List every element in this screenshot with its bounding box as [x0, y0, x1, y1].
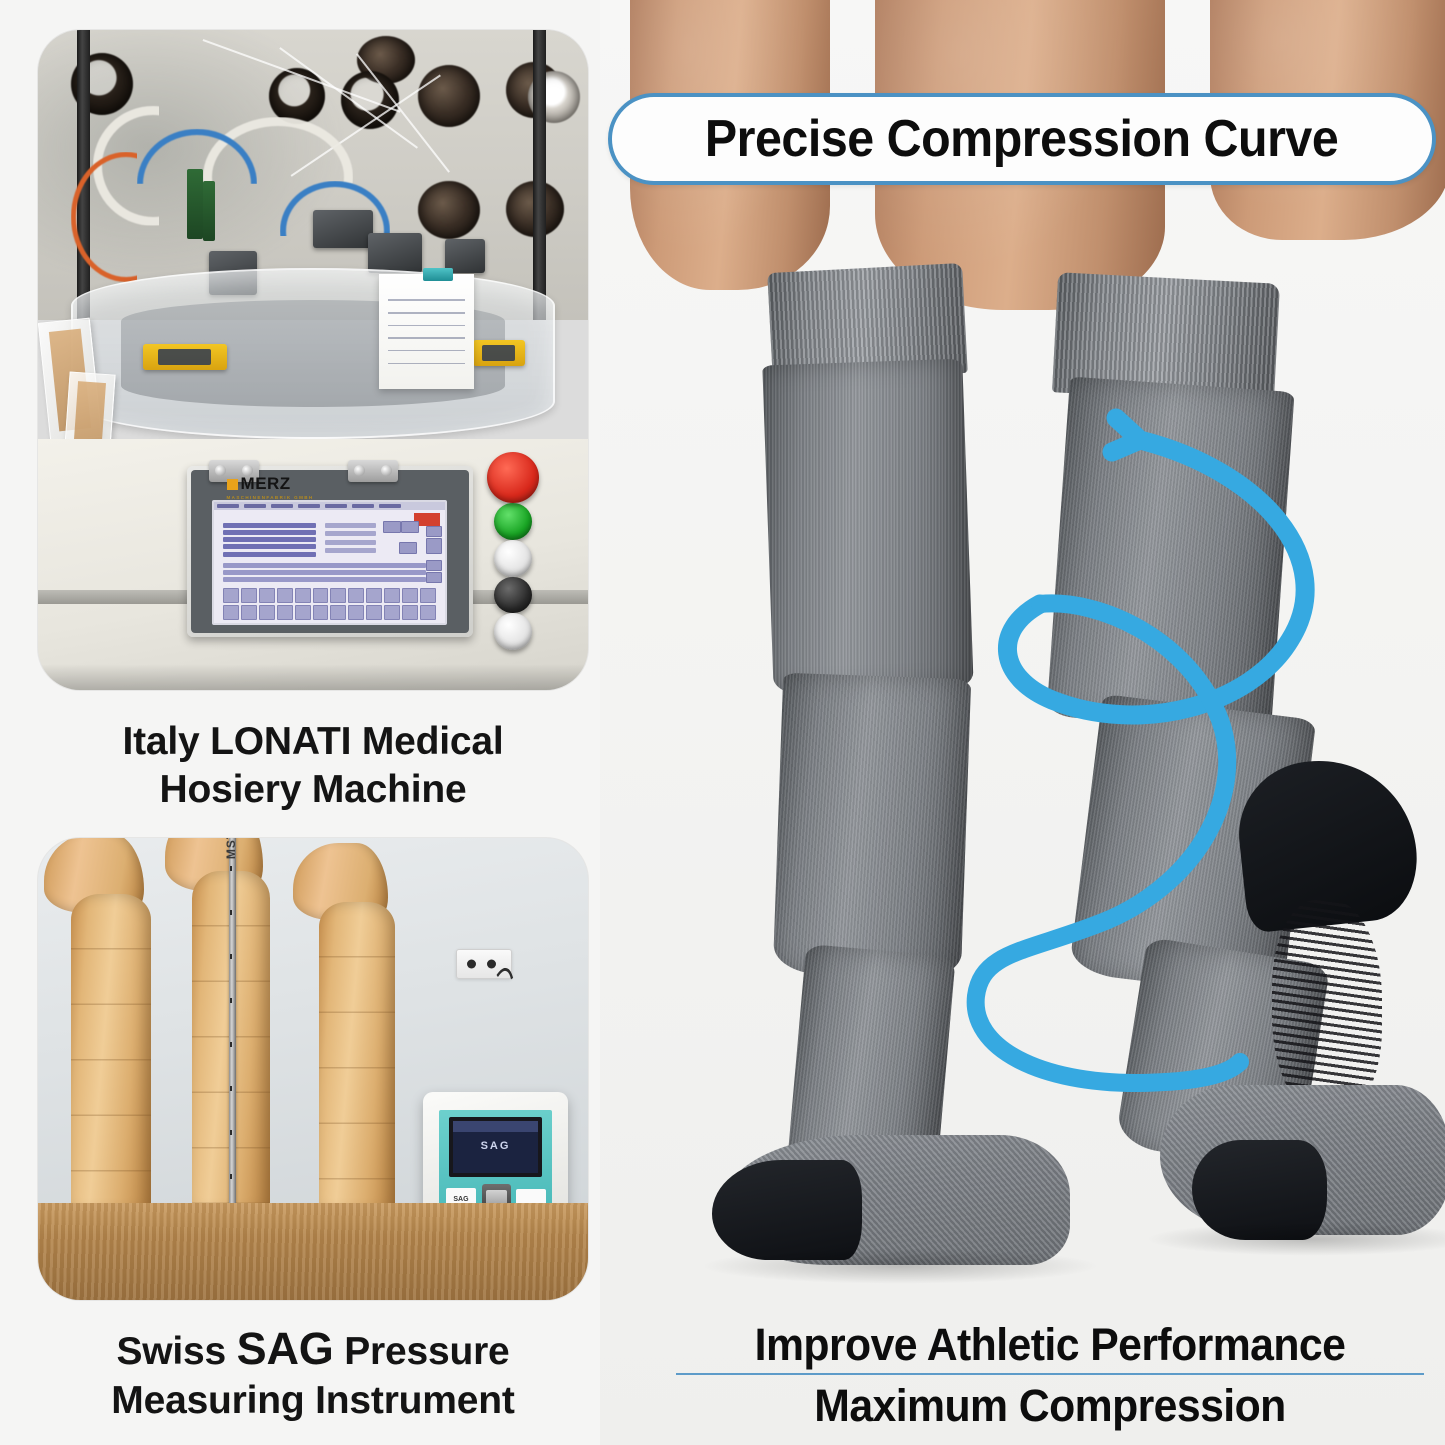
clamp-bar-label: [158, 349, 212, 365]
sag-instrument-photo: MST SAG SAG: [38, 838, 588, 1300]
sag-device-screen: SAG: [449, 1117, 542, 1177]
leg-form-shaft: [319, 902, 395, 1212]
wooden-leg-form: [319, 843, 395, 1213]
reset-button[interactable]: [494, 540, 532, 577]
emergency-stop-button[interactable]: [487, 452, 539, 502]
yarn-cone-icon: [418, 181, 480, 239]
sag-caption-prefix: Swiss: [116, 1330, 236, 1373]
frame-post: [533, 30, 546, 320]
ground-shadow: [700, 1248, 1100, 1284]
hmi-screen[interactable]: [212, 500, 447, 625]
machine-caption: Italy LONATI Medical Hosiery Machine: [20, 718, 606, 813]
sock-caption-line2: Maximum Compression: [680, 1379, 1421, 1432]
pressure-sensor-strip: [229, 838, 236, 1212]
sock-leg-left: [762, 359, 973, 696]
title-text: Precise Compression Curve: [705, 109, 1338, 169]
clamp-bar-left: [143, 344, 227, 370]
sock-hero-panel: [600, 0, 1445, 1445]
merz-brand-logo: MERZ MASCHINENFABRIK GMBH: [227, 474, 314, 500]
hmi-keypad[interactable]: [223, 588, 435, 620]
machine-caption-line2: Hosiery Machine: [20, 766, 606, 814]
hmi-control-panel[interactable]: MERZ MASCHINENFABRIK GMBH: [187, 466, 473, 638]
title-banner: Precise Compression Curve: [608, 93, 1436, 185]
merz-mark-icon: [227, 479, 238, 490]
sock-toe-left: [712, 1160, 862, 1260]
wooden-leg-form-with-sensor: MST: [192, 838, 270, 1212]
control-module: [368, 233, 422, 273]
sag-wooden-table: [38, 1203, 588, 1300]
binder-clip: [423, 268, 453, 281]
sag-caption: Swiss SAG Pressure Measuring Instrument: [20, 1322, 606, 1424]
note-paper: [379, 274, 474, 389]
hmi-menubar[interactable]: [214, 502, 445, 510]
mode-button[interactable]: [494, 577, 532, 614]
sag-device-faceplate: SAG SAG: [439, 1110, 552, 1218]
sag-caption-line2: Measuring Instrument: [20, 1377, 606, 1425]
clamp-bar-label: [482, 345, 515, 361]
sock-leg-right: [1046, 377, 1294, 732]
yarn-cone-icon: [269, 68, 325, 124]
sock-caption: Improve Athletic Performance Maximum Com…: [660, 1318, 1440, 1432]
clamp-bar-right: [473, 340, 525, 366]
caption-divider: [676, 1373, 1424, 1375]
sock-calf-left: [773, 673, 971, 979]
circuit-board: [203, 181, 215, 241]
machine-button-column[interactable]: [482, 452, 544, 650]
wooden-leg-form: [71, 838, 151, 1212]
left-column: MERZ MASCHINENFABRIK GMBH: [0, 0, 600, 1445]
start-button[interactable]: [494, 503, 532, 540]
circuit-board: [187, 169, 203, 239]
sag-caption-emphasis: SAG: [237, 1323, 334, 1374]
leg-form-label: MST: [224, 838, 238, 859]
aux-button[interactable]: [494, 613, 532, 650]
sag-caption-line1: Swiss SAG Pressure: [20, 1322, 606, 1377]
machine-photo: MERZ MASCHINENFABRIK GMBH: [38, 30, 588, 690]
sock-arch-support-lines: [1272, 900, 1382, 1115]
control-module: [313, 210, 373, 248]
machine-scene: MERZ MASCHINENFABRIK GMBH: [38, 30, 588, 690]
sock-caption-line1: Improve Athletic Performance: [680, 1318, 1421, 1371]
sag-screen-label: SAG: [453, 1140, 538, 1152]
machine-caption-line1: Italy LONATI Medical: [20, 718, 606, 766]
sag-caption-suffix: Pressure: [334, 1330, 510, 1373]
infographic-page: MERZ MASCHINENFABRIK GMBH: [0, 0, 1445, 1445]
leg-form-shaft: [71, 894, 151, 1212]
yarn-cone-icon: [418, 65, 480, 127]
panel-hinge-right: [348, 460, 398, 482]
